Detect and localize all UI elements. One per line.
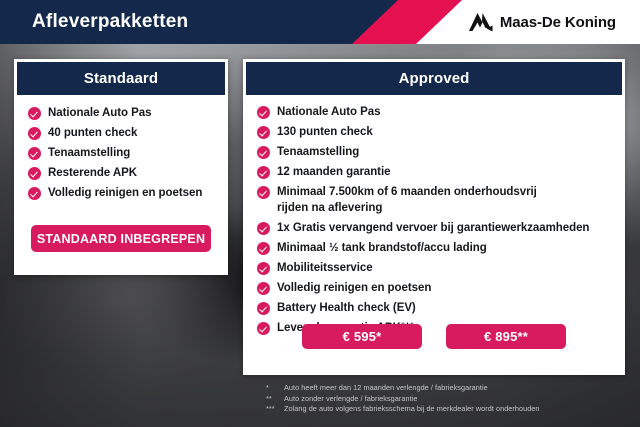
list-item: 1x Gratis vervangend vervoer bij garanti… — [257, 221, 625, 236]
feature-label: Volledig reinigen en poetsen — [277, 281, 431, 296]
check-circle-icon — [257, 302, 270, 315]
feature-label: Minimaal ½ tank brandstof/accu lading — [277, 241, 487, 256]
footnote-text: Auto heeft meer dan 12 maanden verlengde… — [284, 383, 488, 394]
page-title: Afleverpakketten — [32, 0, 188, 44]
card-title-approved: Approved — [246, 62, 622, 95]
check-circle-icon — [257, 262, 270, 275]
footnote-triple-asterisk: *** Zolang de auto volgens fabrieksschem… — [266, 404, 540, 415]
list-item: Tenaamstelling — [257, 145, 625, 160]
price-button-row: € 595* € 895** — [243, 324, 625, 349]
feature-label: 40 punten check — [48, 126, 137, 140]
list-item: Volledig reinigen en poetsen — [28, 186, 228, 200]
footnote-mark: * — [266, 383, 280, 394]
list-item: Minimaal 7.500km of 6 maanden onderhouds… — [257, 185, 625, 200]
list-item: Tenaamstelling — [28, 146, 228, 160]
feature-label: Resterende APK — [48, 166, 137, 180]
list-item: Nationale Auto Pas — [28, 106, 228, 120]
brand-name: Maas-De Koning — [500, 14, 616, 31]
standaard-inbegrepen-button[interactable]: STANDAARD INBEGREPEN — [31, 225, 211, 252]
footnote-double-asterisk: ** Auto zonder verlengde / fabrieksgaran… — [266, 394, 540, 405]
list-item: 130 punten check — [257, 125, 625, 140]
brand-logo: Maas-De Koning — [469, 0, 616, 44]
feature-label: Nationale Auto Pas — [48, 106, 151, 120]
feature-label: Minimaal 7.500km of 6 maanden onderhouds… — [277, 185, 537, 200]
check-circle-icon — [28, 147, 41, 160]
check-circle-icon — [257, 222, 270, 235]
check-circle-icon — [257, 166, 270, 179]
list-item: Mobiliteitsservice — [257, 261, 625, 276]
check-circle-icon — [28, 107, 41, 120]
footnote-text: Auto zonder verlengde / fabrieksgarantie — [284, 394, 417, 405]
feature-label: 1x Gratis vervangend vervoer bij garanti… — [277, 221, 589, 236]
check-circle-icon — [257, 186, 270, 199]
maas-de-koning-m-logo-icon — [469, 12, 493, 32]
feature-list-approved: Nationale Auto Pas 130 punten check Tena… — [243, 95, 625, 336]
feature-label: 12 maanden garantie — [277, 165, 390, 180]
package-card-approved: Approved Nationale Auto Pas 130 punten c… — [243, 59, 625, 375]
footnote-single-asterisk: * Auto heeft meer dan 12 maanden verleng… — [266, 383, 540, 394]
footnote-text: Zolang de auto volgens fabrieksschema bi… — [284, 404, 540, 415]
feature-label: Mobiliteitsservice — [277, 261, 373, 276]
check-circle-icon — [257, 146, 270, 159]
list-item: Volledig reinigen en poetsen — [257, 281, 625, 296]
feature-label: Tenaamstelling — [48, 146, 130, 160]
check-circle-icon — [28, 127, 41, 140]
check-circle-icon — [28, 187, 41, 200]
card-title-standaard: Standaard — [17, 62, 225, 95]
list-item: Resterende APK — [28, 166, 228, 180]
feature-label: Nationale Auto Pas — [277, 105, 380, 120]
feature-list-standaard: Nationale Auto Pas 40 punten check Tenaa… — [14, 95, 228, 200]
footnote-mark: *** — [266, 404, 280, 415]
footnotes: * Auto heeft meer dan 12 maanden verleng… — [266, 383, 540, 415]
check-circle-icon — [257, 282, 270, 295]
check-circle-icon — [257, 242, 270, 255]
feature-label: Battery Health check (EV) — [277, 301, 416, 316]
page-header: Afleverpakketten Maas-De Koning — [0, 0, 640, 44]
feature-label: 130 punten check — [277, 125, 373, 140]
feature-label: Tenaamstelling — [277, 145, 359, 160]
list-item: Battery Health check (EV) — [257, 301, 625, 316]
list-item: Minimaal ½ tank brandstof/accu lading — [257, 241, 625, 256]
check-circle-icon — [257, 126, 270, 139]
check-circle-icon — [28, 167, 41, 180]
list-item: 12 maanden garantie — [257, 165, 625, 180]
price-button-895[interactable]: € 895** — [446, 324, 566, 349]
feature-label-wrap: rijden na aflevering — [277, 201, 625, 215]
feature-label: Volledig reinigen en poetsen — [48, 186, 202, 200]
list-item: Nationale Auto Pas — [257, 105, 625, 120]
list-item: 40 punten check — [28, 126, 228, 140]
footnote-mark: ** — [266, 394, 280, 405]
package-card-standaard: Standaard Nationale Auto Pas 40 punten c… — [14, 59, 228, 275]
afleverpakketten-slide: Afleverpakketten Maas-De Koning Standaar… — [0, 0, 640, 427]
price-button-595[interactable]: € 595* — [302, 324, 422, 349]
check-circle-icon — [257, 106, 270, 119]
